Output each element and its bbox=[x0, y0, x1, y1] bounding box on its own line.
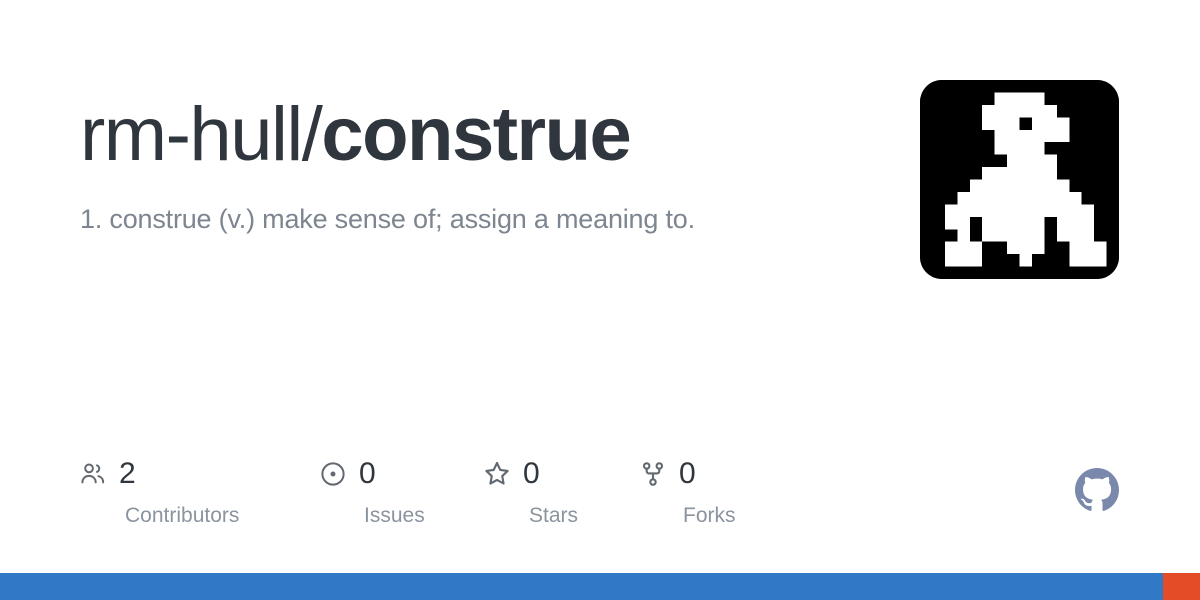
page-title: rm-hull/construe bbox=[80, 92, 880, 178]
stat-forks-top: 0 bbox=[638, 452, 696, 496]
repository-social-card: rm-hull/construe 1. construe (v.) make s… bbox=[0, 0, 1200, 600]
stat-stars-value: 0 bbox=[523, 459, 540, 489]
repo-description: 1. construe (v.) make sense of; assign a… bbox=[80, 202, 880, 236]
stat-forks: 0 Forks bbox=[638, 452, 788, 528]
repo-name: construe bbox=[321, 92, 630, 177]
stat-issues-label: Issues bbox=[364, 504, 425, 528]
stat-stars-label: Stars bbox=[529, 504, 578, 528]
stat-contributors-label: Contributors bbox=[125, 504, 239, 528]
header-block: rm-hull/construe 1. construe (v.) make s… bbox=[80, 92, 880, 236]
stat-stars: 0 Stars bbox=[482, 452, 638, 528]
stat-issues-value: 0 bbox=[359, 459, 376, 489]
language-segment-primary bbox=[0, 573, 1163, 600]
stat-forks-label: Forks bbox=[683, 504, 736, 528]
stats-row: 2 Contributors 0 Issues bbox=[78, 452, 788, 528]
stat-contributors-top: 2 bbox=[78, 452, 136, 496]
people-icon bbox=[78, 459, 108, 489]
stat-issues: 0 Issues bbox=[318, 452, 482, 528]
issue-opened-icon bbox=[318, 459, 348, 489]
stat-contributors: 2 Contributors bbox=[78, 452, 318, 528]
stat-contributors-value: 2 bbox=[119, 459, 136, 489]
avatar bbox=[920, 80, 1119, 279]
stat-issues-top: 0 bbox=[318, 452, 376, 496]
star-icon bbox=[482, 459, 512, 489]
language-segment-secondary bbox=[1163, 573, 1200, 600]
stat-forks-value: 0 bbox=[679, 459, 696, 489]
repo-owner: rm-hull/ bbox=[80, 92, 321, 177]
language-bar bbox=[0, 573, 1200, 600]
pixel-art-figure-avatar bbox=[920, 80, 1119, 279]
fork-icon bbox=[638, 459, 668, 489]
stat-stars-top: 0 bbox=[482, 452, 540, 496]
github-logo-icon bbox=[1075, 468, 1119, 512]
